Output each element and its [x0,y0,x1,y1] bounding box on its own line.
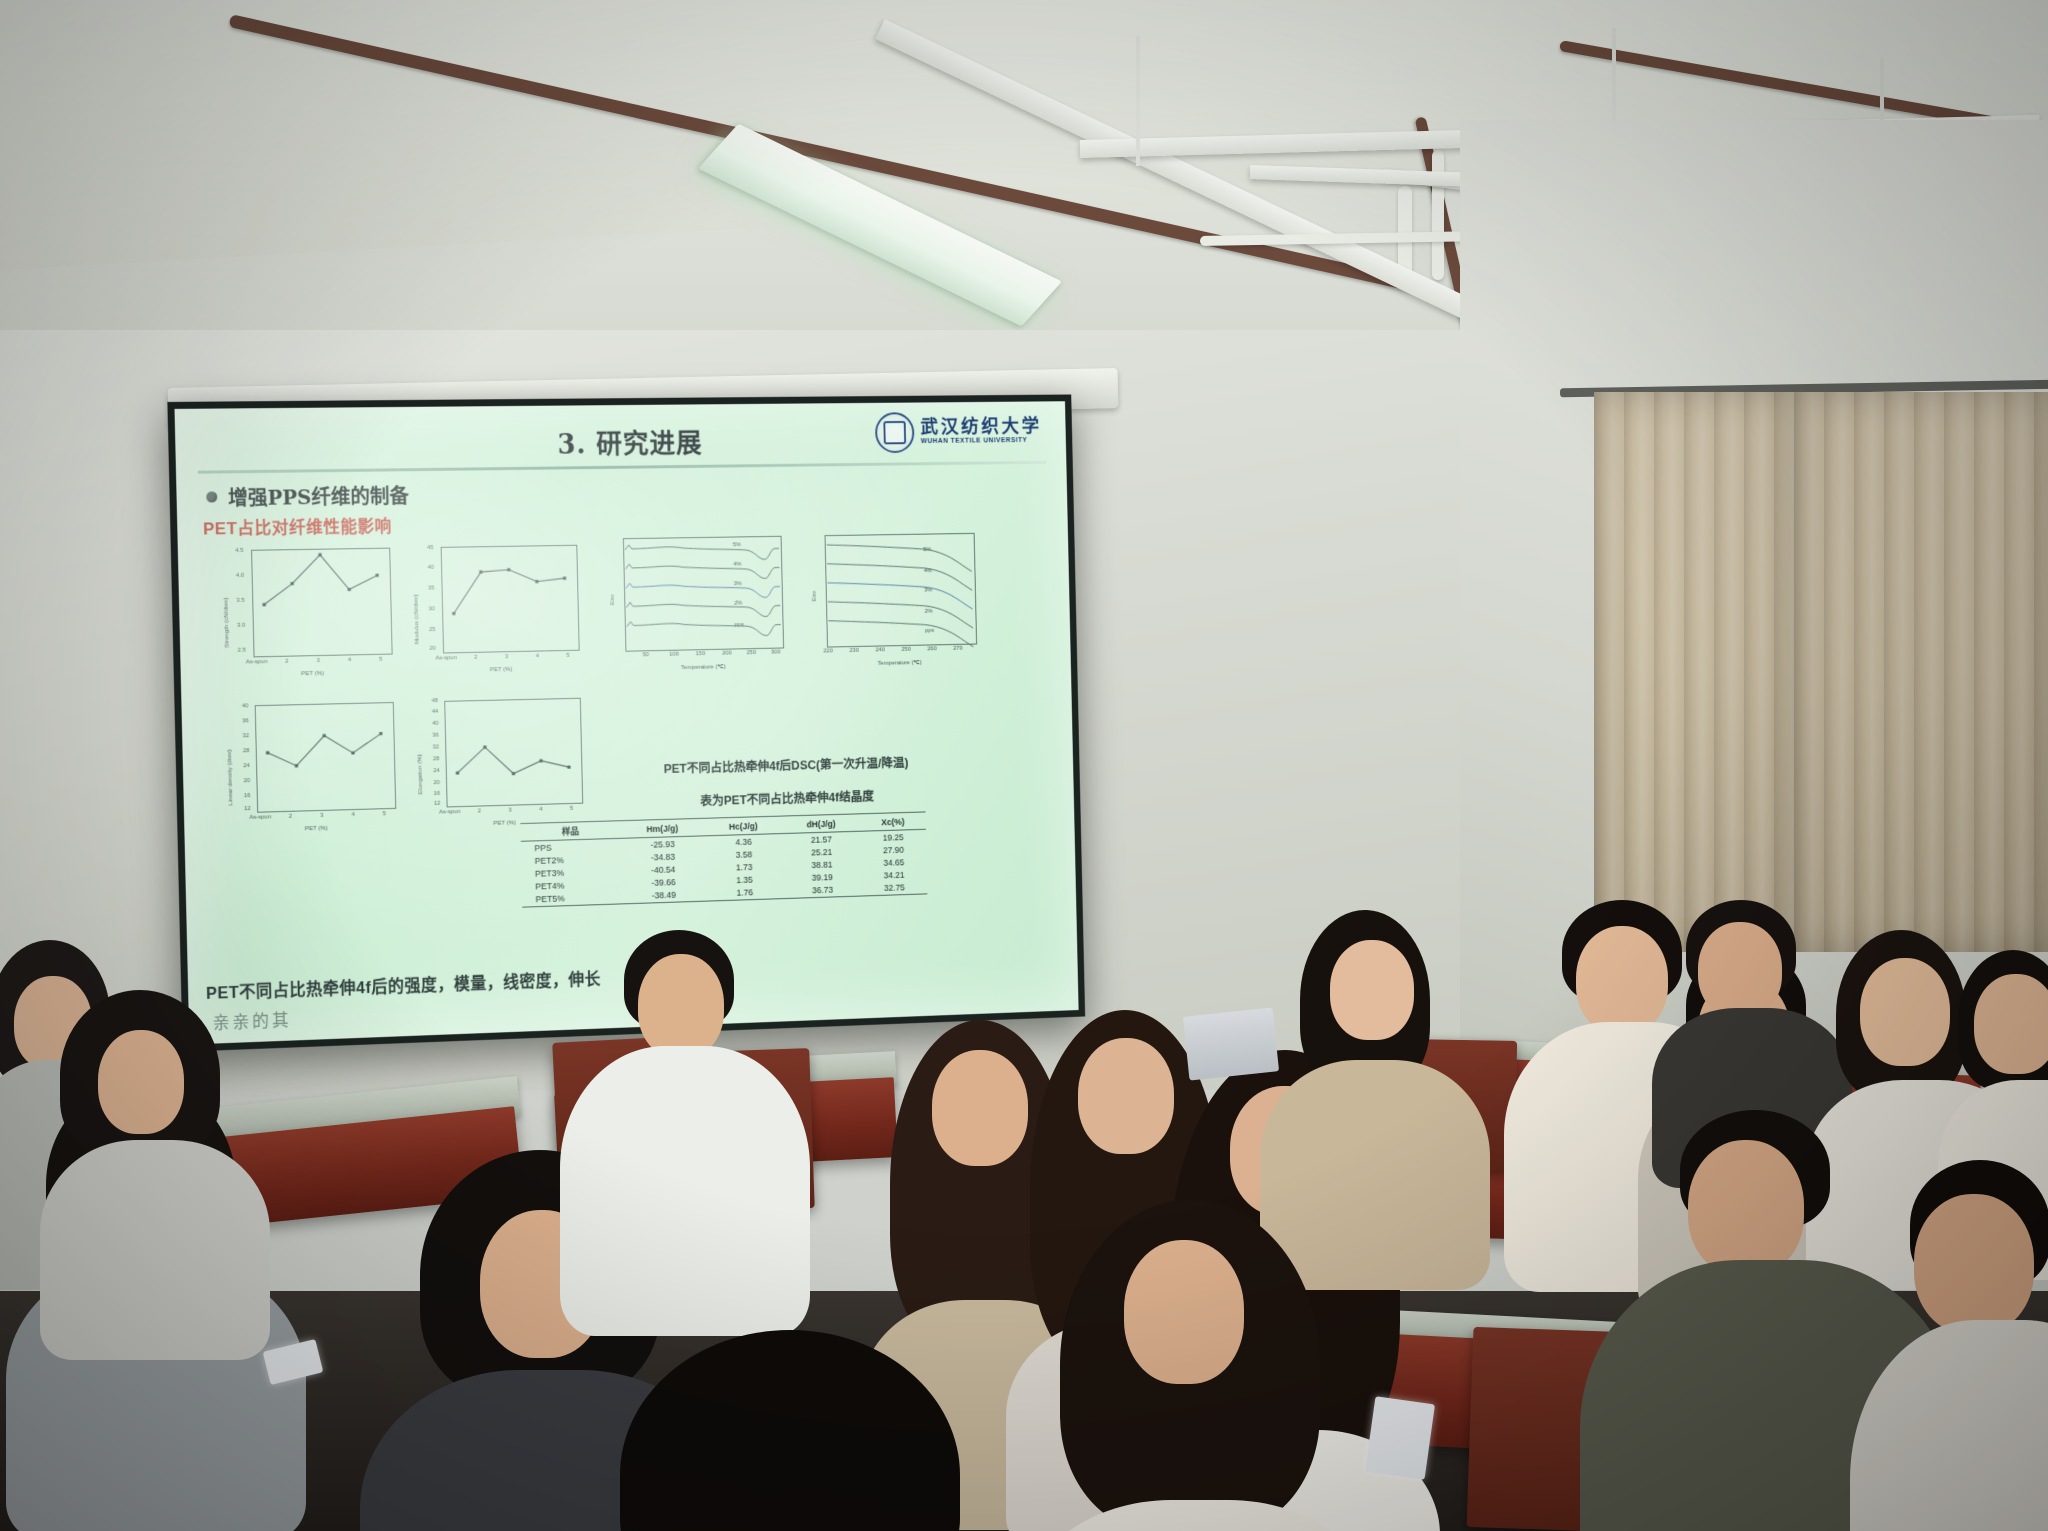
projection-screen: 3. 研究进展 武汉纺织大学 WUHAN TEXTILE UNIVERSITY … [167,394,1085,1051]
head [638,954,724,1058]
chart-dsc-cooling-legend-4: pps [925,628,934,634]
chart-dsc-cooling-xtick-4: 260 [927,646,936,652]
chart-linear-density-xtick-0: As-spun [249,814,271,821]
chart-linear-density-ytick-1: 36 [242,718,249,724]
cell-hc: 1.76 [706,885,784,901]
cell-dh: 36.73 [783,883,861,899]
chart-dsc-cooling-xtick-0: 220 [823,648,832,654]
ceiling-pipe-white-vertical [1432,150,1444,280]
head [1124,1240,1244,1384]
chart-modulus-xtick-2: 3 [505,654,508,660]
head [1914,1194,2034,1334]
head [1330,940,1414,1040]
chart-elongation-ytick-8: 16 [434,791,441,797]
chart-modulus: Modulus (cN/dtex) PET (%) 45 40 35 30 25… [402,539,588,680]
chart-dsc-heating-xtick-3: 200 [722,650,732,656]
chart-dsc-heating-legend-4: pps [735,622,744,628]
window-curtain-left [1594,392,1794,952]
chart-dsc-cooling: Exo Temperature (℃) 220 230 240 250 260 … [793,529,989,679]
chart-strength-xtick-0: As-spun [246,659,268,665]
chart-linear-density-xtick-4: 5 [383,811,386,817]
chart-strength-ytick-4: 2.5 [238,648,246,654]
university-logo-text: 武汉纺织大学 WUHAN TEXTILE UNIVERSITY [920,418,1042,445]
head [98,1030,184,1134]
chart-strength-xlabel: PET (%) [301,670,324,677]
chart-dsc-heating-curves [623,536,782,650]
chart-elongation-ytick-9: 12 [434,801,441,807]
cell-sample: PET5% [522,890,622,907]
chart-dsc-heating-xtick-1: 100 [669,652,679,658]
slide-bottom-caption: PET不同占比热牵伸4f后的强度，模量，线密度，伸长 [206,966,601,1004]
torso [40,1140,270,1360]
chart-dsc-heating: Exo Temperature (℃) 50 100 150 200 250 3… [590,532,792,684]
university-seal-icon [875,412,915,453]
chart-strength-series [251,548,391,656]
university-logo: 武汉纺织大学 WUHAN TEXTILE UNIVERSITY [875,411,1043,453]
chart-linear-density-ytick-7: 12 [244,806,251,812]
chart-dsc-cooling-xtick-3: 250 [901,647,910,653]
chart-elongation-ytick-2: 40 [432,721,439,727]
chart-linear-density-ytick-0: 40 [242,703,249,709]
chart-strength: Strength (cN/dtex) PET (%) 4.5 4.0 3.5 3… [211,542,401,685]
chart-dsc-heating-xtick-0: 50 [643,652,649,658]
chart-dsc-heating-ylabel: Exo [609,594,616,605]
chart-strength-ylabel: Strength (cN/dtex) [223,598,231,648]
chart-dsc-cooling-curves [825,533,976,646]
chart-linear-density-series [255,702,395,811]
chart-dsc-cooling-ylabel: Exo [811,591,818,601]
slide-subtitle-red: PET占比对纤维性能影响 [203,512,392,540]
chart-dsc-cooling-legend-0: 5% [923,547,931,553]
chart-dsc-cooling-xtick-2: 240 [875,647,884,653]
chart-elongation-ytick-3: 36 [432,733,439,739]
light-hanger-left [1136,36,1140,166]
chart-modulus-ytick-5: 20 [429,646,436,652]
chart-elongation-series [444,698,581,806]
cell-xc: 32.75 [861,881,927,896]
chart-linear-density-xtick-2: 3 [320,813,323,819]
chart-linear-density-ytick-5: 20 [244,778,251,784]
chart-modulus-xtick-4: 5 [566,653,569,659]
presentation-slide: 3. 研究进展 武汉纺织大学 WUHAN TEXTILE UNIVERSITY … [175,401,1079,1044]
cell-hm: -38.49 [621,888,706,904]
phone-device[interactable] [1365,1396,1435,1480]
chart-linear-density-xtick-1: 2 [289,814,292,820]
chart-modulus-ytick-0: 45 [427,545,434,551]
chart-dsc-cooling-legend-1: 4% [924,568,932,574]
head [1576,926,1668,1034]
table-col-xc: Xc(%) [860,812,926,831]
chart-modulus-xlabel: PET (%) [490,666,513,673]
chart-modulus-series [441,545,578,652]
chart-dsc-heating-xtick-4: 250 [747,650,757,656]
chart-elongation-ytick-5: 28 [433,756,440,762]
chart-linear-density-xlabel: PET (%) [305,825,328,833]
chart-strength-ytick-1: 4.0 [236,573,244,579]
chart-strength-xtick-4: 5 [379,657,382,663]
head [1698,922,1782,1018]
chart-dsc-heating-xlabel: Temperature (℃) [681,663,726,671]
chart-elongation-ytick-1: 44 [432,709,439,715]
chart-dsc-cooling-xtick-1: 230 [849,648,858,654]
chart-elongation-xlabel: PET (%) [493,819,516,827]
chart-modulus-ytick-4: 25 [429,627,436,633]
chart-modulus-ylabel: Modulus (cN/dtex) [413,594,421,644]
chart-strength-xtick-2: 3 [317,658,320,664]
chart-linear-density: Linear density (dtex) PET (%) 40 36 32 2… [215,696,405,842]
chart-elongation-ytick-7: 20 [433,780,440,786]
chart-strength-ytick-3: 3.0 [237,623,245,629]
chart-linear-density-ytick-2: 32 [243,733,250,739]
chart-strength-ytick-2: 3.5 [236,598,244,604]
slide-signature: 亲亲的其 [212,1006,291,1034]
chart-dsc-heating-legend-1: 4% [733,562,741,568]
university-name-english: WUHAN TEXTILE UNIVERSITY [921,437,1042,445]
chart-strength-xtick-1: 2 [285,659,288,665]
head [1974,974,2048,1074]
chart-modulus-xtick-3: 4 [536,653,539,659]
chart-modulus-xtick-0: As-spun [435,655,456,661]
chart-linear-density-ytick-6: 16 [244,793,251,799]
bullet-label: 增强PPS纤维的制备 [228,480,409,511]
chart-dsc-heating-xtick-5: 300 [771,649,781,655]
chart-dsc-heating-legend-2: 3% [734,581,742,587]
slide-bullet: 增强PPS纤维的制备 [206,480,409,511]
chart-modulus-ytick-3: 30 [428,606,435,612]
head [932,1050,1028,1166]
chart-linear-density-ytick-4: 24 [243,763,250,769]
chart-elongation-ytick-6: 24 [433,768,440,774]
chart-dsc-cooling-xlabel: Temperature (℃) [878,659,922,667]
laptop-device[interactable] [1183,1007,1279,1080]
chart-strength-xtick-3: 4 [348,657,351,663]
chart-dsc-heating-legend-0: 5% [733,542,741,548]
torso [560,1046,810,1336]
university-name-chinese: 武汉纺织大学 [920,418,1042,438]
chart-elongation-xtick-0: As-spun [439,809,460,816]
chart-elongation-xtick-1: 2 [478,808,481,814]
chart-modulus-ytick-1: 40 [427,565,434,571]
chart-dsc-cooling-xtick-5: 270 [953,646,962,652]
head [1078,1038,1174,1154]
chart-dsc-heating-xtick-2: 150 [696,651,706,657]
torso [1260,1060,1490,1290]
chart-dsc-cooling-legend-3: 2% [925,609,933,615]
chart-linear-density-ylabel: Linear density (dtex) [226,750,234,806]
chart-strength-ytick-0: 4.5 [235,548,243,554]
chart-modulus-xtick-1: 2 [474,655,477,661]
chart-elongation-ylabel: Elongation (%) [416,754,424,794]
chart-modulus-ytick-2: 35 [428,585,435,591]
classroom-photo: 3. 研究进展 武汉纺织大学 WUHAN TEXTILE UNIVERSITY … [0,0,2048,1531]
head [1688,1140,1804,1276]
chart-linear-density-xtick-3: 4 [351,812,354,818]
chart-linear-density-ytick-3: 28 [243,748,250,754]
chart-dsc-heating-legend-3: 2% [734,601,742,607]
bullet-dot-icon [206,491,217,502]
crystallinity-table: 样品 Hm(J/g) Hc(J/g) dH(J/g) Xc(%) PPS -25… [520,811,927,907]
chart-elongation-ytick-4: 32 [433,744,440,750]
chart-elongation-ytick-0: 48 [432,698,439,704]
head [1860,958,1950,1066]
chart-dsc-cooling-legend-2: 3% [924,588,932,594]
window-curtain-right [1794,392,2048,952]
